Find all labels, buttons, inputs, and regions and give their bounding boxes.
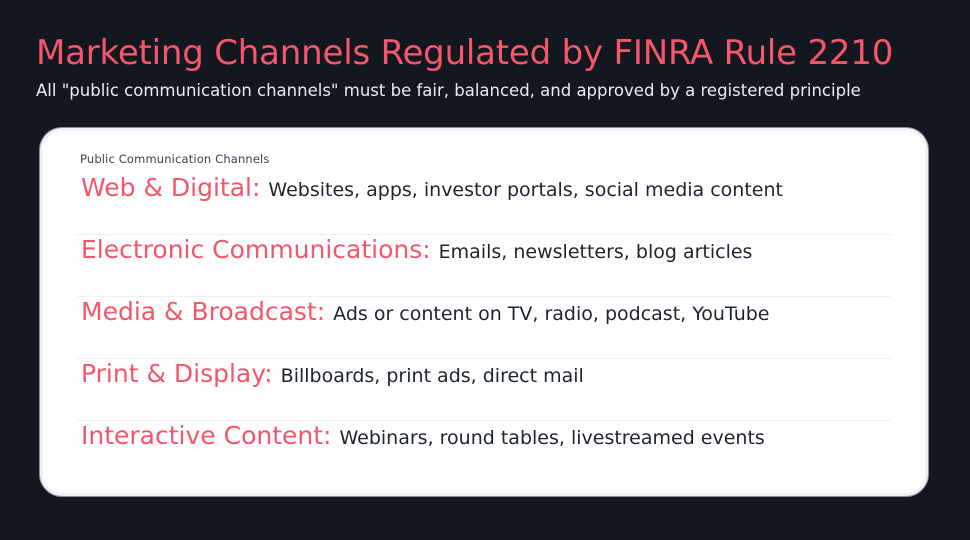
channel-label: Web & Digital: — [81, 173, 260, 203]
list-item: Print & Display: Billboards, print ads, … — [77, 359, 891, 421]
channel-label: Print & Display: — [81, 359, 273, 389]
channel-label: Media & Broadcast: — [81, 297, 325, 327]
channels-card: Public Communication Channels Web & Digi… — [40, 128, 928, 496]
slide-header: Marketing Channels Regulated by FINRA Ru… — [36, 30, 934, 102]
card-label: Public Communication Channels — [80, 151, 891, 167]
channel-description: Billboards, print ads, direct mail — [281, 363, 584, 389]
list-item: Interactive Content: Webinars, round tab… — [77, 421, 891, 483]
channel-label: Interactive Content: — [81, 421, 331, 451]
page-title: Marketing Channels Regulated by FINRA Ru… — [36, 30, 934, 76]
list-item: Web & Digital: Websites, apps, investor … — [77, 173, 891, 235]
list-item: Media & Broadcast: Ads or content on TV,… — [77, 297, 891, 359]
list-item: Electronic Communications: Emails, newsl… — [77, 235, 891, 297]
page-subtitle: All "public communication channels" must… — [36, 80, 934, 102]
channel-label: Electronic Communications: — [81, 235, 431, 265]
channel-description: Websites, apps, investor portals, social… — [268, 177, 783, 203]
channel-list: Web & Digital: Websites, apps, investor … — [77, 173, 891, 483]
channel-description: Webinars, round tables, livestreamed eve… — [339, 425, 764, 451]
channel-description: Ads or content on TV, radio, podcast, Yo… — [333, 301, 769, 327]
channel-description: Emails, newsletters, blog articles — [439, 239, 753, 265]
slide-root: Marketing Channels Regulated by FINRA Ru… — [0, 0, 970, 540]
